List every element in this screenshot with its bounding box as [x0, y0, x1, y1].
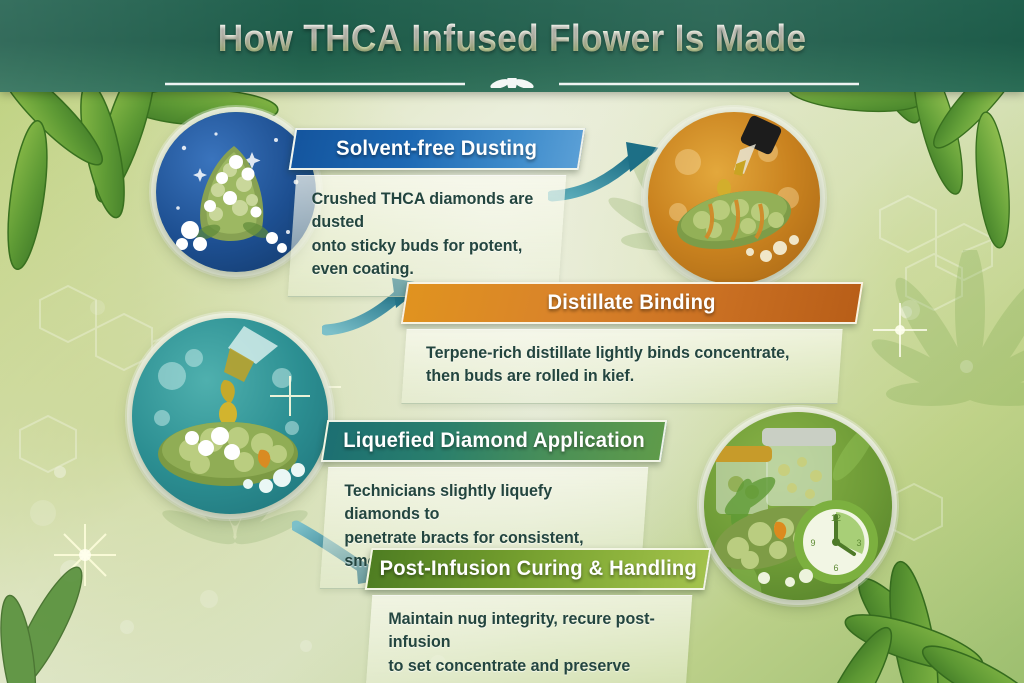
step-1-line-1: Crushed THCA diamonds are dusted: [312, 188, 543, 235]
step-2-banner: Distillate Binding: [401, 282, 864, 324]
step-1-body: Crushed THCA diamonds are dusted onto st…: [288, 175, 567, 297]
leaf-fleuron-ornament: [489, 78, 534, 88]
step-2-line-1: Terpene-rich distillate lightly binds co…: [426, 342, 818, 365]
step-2-title: Distillate Binding: [548, 291, 716, 315]
step-1-line-3: even coating.: [312, 258, 543, 281]
step-4-line-2: to set concentrate and preserve terpenes…: [388, 655, 667, 683]
step-4-banner: Post-Infusion Curing & Handling: [365, 548, 712, 590]
step-2-line-2: then buds are rolled in kief.: [426, 365, 818, 388]
dropper-bud-illustration: [648, 112, 820, 284]
curing-jars-clock-illustration: 123 69: [704, 412, 892, 600]
step-4-image: 123 69: [704, 412, 892, 600]
step-1-panel: Solvent-free Dusting Crushed THCA diamon…: [292, 128, 582, 297]
step-3-title: Liquefied Diamond Application: [343, 429, 645, 453]
svg-text:9: 9: [810, 538, 815, 548]
bokeh-dot: [90, 300, 105, 315]
step-3-line-1: Technicians slightly liquefy diamonds to: [344, 480, 623, 527]
pipette-diamond-illustration: [132, 318, 328, 514]
step-1-line-2: onto sticky buds for potent,: [312, 235, 543, 258]
svg-text:12: 12: [831, 513, 841, 523]
step-2-image: [648, 112, 820, 284]
step-3-banner: Liquefied Diamond Application: [321, 420, 668, 462]
bokeh-dot: [900, 300, 920, 320]
step-3-image: [132, 318, 328, 514]
page-title: How THCA Infused Flower Is Made: [36, 18, 988, 61]
step-2-body: Terpene-rich distillate lightly binds co…: [401, 329, 842, 404]
infographic-poster: How THCA Infused Flower Is Made: [0, 0, 1024, 683]
step-2-panel: Distillate Binding Terpene-rich distilla…: [404, 282, 860, 404]
svg-text:6: 6: [833, 563, 838, 573]
svg-text:3: 3: [856, 538, 861, 548]
step-4-title: Post-Infusion Curing & Handling: [379, 557, 696, 581]
step-1-title: Solvent-free Dusting: [336, 137, 537, 161]
bokeh-dot: [300, 640, 312, 652]
step-4-panel: Post-Infusion Curing & Handling Maintain…: [368, 548, 708, 683]
step-4-line-1: Maintain nug integrity, recure post-infu…: [388, 608, 667, 655]
title-divider: [165, 78, 859, 88]
bokeh-dot: [960, 360, 973, 373]
step-4-body: Maintain nug integrity, recure post-infu…: [364, 595, 693, 683]
step-1-banner: Solvent-free Dusting: [289, 128, 586, 170]
